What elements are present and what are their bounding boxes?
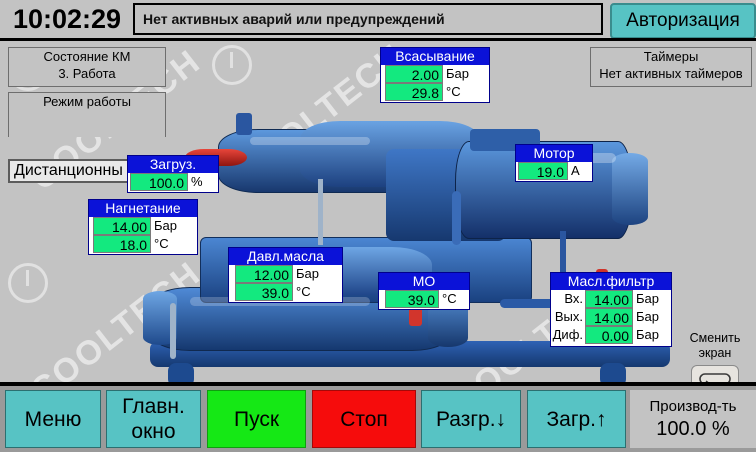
alarm-status-banner: Нет активных аварий или предупреждений [133,3,603,35]
capacity-value: 100.0 [656,418,706,440]
authorization-button[interactable]: Авторизация [610,3,756,39]
oil-temperature-unit: °C [293,283,311,301]
oil-filter-inlet-value: 14.00 [585,290,633,308]
suction-temperature-value: 29.8 [385,83,443,101]
capacity-title: Производ-ть [650,397,737,417]
readout-row: 18.0 °C [89,235,197,253]
oil-filter-diff-value: 0.00 [585,326,633,344]
status-panel-title: Состояние КМ [9,48,165,65]
readout-row: 14.00 Бар [89,217,197,235]
change-screen-label-line1: Сменить [676,331,754,346]
capacity-indicator: Производ-ть 100.0 % [630,390,756,448]
oil-filter-diff-unit: Бар [633,326,659,344]
readout-row: Вых. 14.00 Бар [551,308,671,326]
change-screen-button[interactable] [691,365,739,382]
readout-motor: Мотор 19.0 A [515,144,593,182]
suction-pressure-value: 2.00 [385,65,443,83]
oil-pressure-unit: Бар [293,265,319,283]
timers-panel-value: Нет активных таймеров [591,65,751,82]
readout-mo-title: МО [379,273,469,290]
oil-pressure-value: 12.00 [235,265,293,283]
discharge-pressure-value: 14.00 [93,217,151,235]
readout-oil-pressure: Давл.масла 12.00 Бар 39.0 °C [228,247,343,303]
readout-row: 39.0 °C [229,283,342,301]
motor-current-unit: A [568,162,580,180]
unload-button[interactable]: Разгр.↓ [421,390,521,448]
readout-oil-pressure-title: Давл.масла [229,248,342,265]
readout-row: Вх. 14.00 Бар [551,290,671,308]
readout-suction: Всасывание 2.00 Бар 29.8 °C [380,47,490,103]
readout-row: 2.00 Бар [381,65,489,83]
operating-mode-panel: Режим работы [8,92,166,137]
watermark-logo-icon [8,263,48,303]
readout-row: 19.0 A [516,162,592,180]
mode-select-value: Дистанционны [14,162,123,180]
change-screen-label-line2: экран [676,346,754,361]
motor-current-value: 19.0 [518,162,568,180]
main-window-button[interactable]: Главн. окно [106,390,201,448]
readout-row: 100.0 % [128,173,218,191]
readout-mo: МО 39.0 °C [378,272,470,310]
readout-row: Диф. 0.00 Бар [551,326,671,344]
main-window-label-line1: Главн. [122,394,185,419]
suction-temperature-unit: °C [443,83,461,101]
suction-pressure-unit: Бар [443,65,469,83]
discharge-temperature-value: 18.0 [93,235,151,253]
hmi-screen: 10:02:29 Нет активных аварий или предупр… [0,0,756,452]
readout-row: 39.0 °C [379,290,469,308]
discharge-pressure-unit: Бар [151,217,177,235]
discharge-temperature-unit: °C [151,235,169,253]
mo-temperature-value: 39.0 [385,290,439,308]
status-panel-value: 3. Работа [9,65,165,82]
compressor-graphic-area: COOLTECH COOLTECH COOLTECH COOLTECH [0,41,756,382]
oil-filter-inlet-label: Вх. [551,290,585,308]
readout-discharge-title: Нагнетание [89,200,197,217]
readout-row: 12.00 Бар [229,265,342,283]
clock-display: 10:02:29 [4,3,130,35]
readout-load: Загруз. 100.0 % [127,155,219,193]
bottom-button-bar: Меню Главн. окно Пуск Стоп Разгр.↓ Загр.… [0,386,756,452]
oil-filter-diff-label: Диф. [551,326,585,344]
change-screen-control[interactable]: Сменить экран [676,331,754,382]
oil-temperature-value: 39.0 [235,283,293,301]
timers-panel: Таймеры Нет активных таймеров [590,47,752,87]
stop-button[interactable]: Стоп [312,390,416,448]
load-unit: % [188,173,203,191]
readout-row: 29.8 °C [381,83,489,101]
main-window-label-line2: окно [131,419,175,444]
load-value: 100.0 [130,173,188,191]
readout-load-title: Загруз. [128,156,218,173]
readout-discharge: Нагнетание 14.00 Бар 18.0 °C [88,199,198,255]
oil-filter-outlet-unit: Бар [633,308,659,326]
oil-filter-inlet-unit: Бар [633,290,659,308]
compressor-status-panel: Состояние КМ 3. Работа [8,47,166,87]
top-bar: 10:02:29 Нет активных аварий или предупр… [0,0,756,38]
watermark-logo-icon [212,45,252,85]
capacity-unit: % [712,418,730,440]
capacity-value-row: 100.0 % [656,417,729,441]
readout-motor-title: Мотор [516,145,592,162]
readout-oil-filter: Масл.фильтр Вх. 14.00 Бар Вых. 14.00 Бар… [550,272,672,347]
readout-oil-filter-title: Масл.фильтр [551,273,671,290]
mo-temperature-unit: °C [439,290,457,308]
timers-panel-title: Таймеры [591,48,751,65]
load-button[interactable]: Загр.↑ [527,390,626,448]
menu-button[interactable]: Меню [5,390,101,448]
mode-panel-title: Режим работы [9,93,165,110]
oil-filter-outlet-label: Вых. [551,308,585,326]
start-button[interactable]: Пуск [207,390,306,448]
readout-suction-title: Всасывание [381,48,489,65]
oil-filter-outlet-value: 14.00 [585,308,633,326]
loop-arrow-icon [698,371,732,382]
